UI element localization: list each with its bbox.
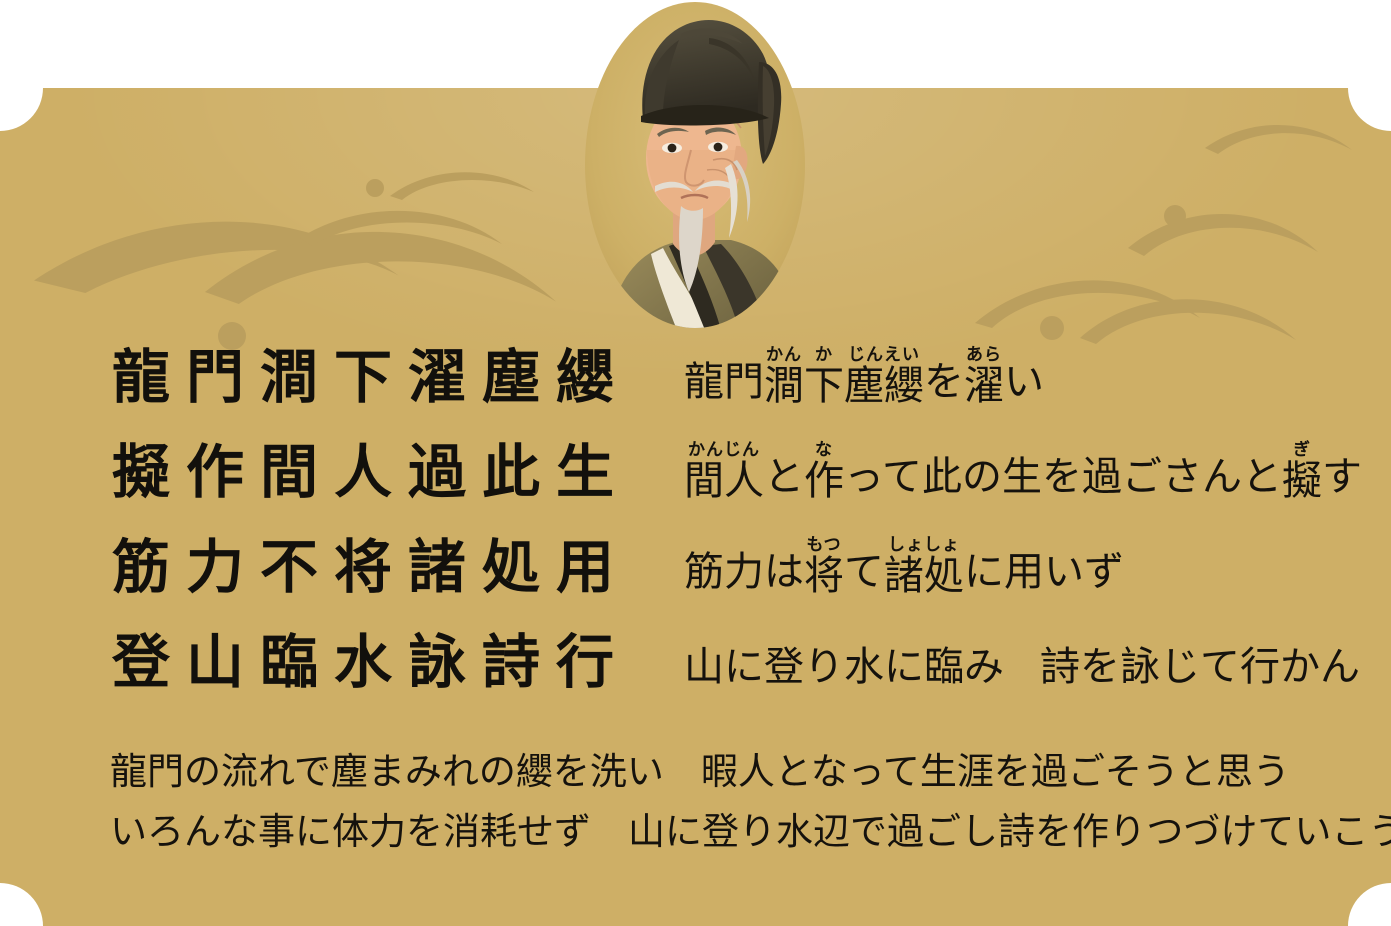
kanji-line-4: 登山臨水詠詩行 — [112, 615, 630, 710]
ruby-segment: 作な — [804, 440, 844, 506]
translation-line-1: 龍門の流れで塵まみれの纓を洗い暇人となって生涯を過ごそうと思う — [0, 742, 1391, 802]
poem-row: 龍門澗下濯塵纓 龍門澗かん下か塵纓じんえいを濯あらい — [0, 330, 1391, 425]
bird-wing-icon — [1128, 214, 1318, 256]
ruby-segment: 間人かんじん — [684, 440, 764, 506]
ruby-segment: 擬ぎ — [1282, 440, 1322, 506]
poem-block: 龍門澗下濯塵纓 龍門澗かん下か塵纓じんえいを濯あらい 擬作間人過此生 間人かんじ… — [0, 330, 1391, 710]
portrait-of-poet — [581, 0, 809, 330]
ruby-segment: を — [924, 349, 964, 407]
translation-line-1-part2: 暇人となって生涯を過ごそうと思う — [701, 750, 1290, 793]
ruby-segment: 詩を詠じて行かん — [1040, 634, 1360, 692]
bird-wing-icon — [390, 172, 534, 200]
corner-notch-bottom-right — [1348, 883, 1391, 926]
ruby-segment: 澗かん — [764, 345, 804, 411]
translation-line-2-part2: 山に登り水辺で過ごし詩を作りつづけていこう — [628, 810, 1391, 853]
corner-notch-top-left — [0, 88, 43, 131]
kanji-line-3: 筋力不将諸処用 — [112, 520, 630, 615]
kanji-line-1: 龍門澗下濯塵纓 — [112, 330, 630, 425]
yomi-line-1: 龍門澗かん下か塵纓じんえいを濯あらい — [684, 330, 1044, 425]
bird-wing-icon — [34, 222, 399, 293]
yomi-line-2: 間人かんじんと作なって此の生を過ごさんと擬ぎす — [684, 425, 1362, 520]
ruby-segment: 下か — [804, 345, 844, 411]
ruby-segment: と — [764, 444, 804, 502]
corner-notch-top-right — [1348, 88, 1391, 131]
furigana: ぎ — [1282, 440, 1322, 460]
ruby-segment: て — [844, 539, 884, 597]
yomi-line-4: 山に登り水に臨み詩を詠じて行かん — [684, 615, 1360, 710]
ruby-segment: 濯あら — [964, 345, 1004, 411]
translation-line-1-part1: 龍門の流れで塵まみれの纓を洗い — [110, 750, 664, 793]
bird-wing-icon — [205, 232, 556, 304]
translation-line-2: いろんな事に体力を消耗せず山に登り水辺で過ごし詩を作りつづけていこう — [0, 802, 1391, 862]
yomi-line-3: 筋力は将もつて諸処しょしょに用いず — [684, 520, 1124, 615]
furigana: かん — [764, 345, 804, 365]
furigana: しょしょ — [884, 535, 964, 555]
ruby-segment: って此の生を過ごさんと — [844, 444, 1282, 502]
ruby-segment: 山に登り水に臨み — [684, 634, 1004, 692]
ruby-segment: 塵纓じんえい — [844, 345, 924, 411]
ruby-segment: 将もつ — [804, 535, 844, 601]
ruby-segment: 諸処しょしょ — [884, 535, 964, 601]
ruby-segment: 筋力は — [684, 539, 804, 597]
corner-notch-bottom-left — [0, 883, 43, 926]
furigana: じんえい — [844, 345, 924, 365]
ruby-segment: す — [1322, 444, 1362, 502]
furigana: かんじん — [684, 440, 764, 460]
ruby-segment: に用いず — [964, 539, 1124, 597]
poem-row: 筋力不将諸処用 筋力は将もつて諸処しょしょに用いず — [0, 520, 1391, 615]
ruby-segment: 龍門 — [684, 349, 764, 407]
bird-body-dot-icon — [1164, 205, 1186, 227]
furigana: か — [804, 345, 844, 365]
bird-body-dot-icon — [366, 179, 384, 197]
ruby-segment: い — [1004, 349, 1044, 407]
bird-wing-icon — [300, 211, 502, 246]
translation-line-2-part1: いろんな事に体力を消耗せず — [110, 810, 591, 853]
furigana: な — [804, 440, 844, 460]
translation-block: 龍門の流れで塵まみれの纓を洗い暇人となって生涯を過ごそうと思う いろんな事に体力… — [0, 742, 1391, 862]
bird-wing-icon — [1205, 125, 1352, 154]
poem-row: 擬作間人過此生 間人かんじんと作なって此の生を過ごさんと擬ぎす — [0, 425, 1391, 520]
furigana: あら — [964, 345, 1004, 365]
poem-row: 登山臨水詠詩行 山に登り水に臨み詩を詠じて行かん — [0, 615, 1391, 710]
poem-card: 龍門澗下濯塵纓 龍門澗かん下か塵纓じんえいを濯あらい 擬作間人過此生 間人かんじ… — [0, 0, 1391, 926]
kanji-line-2: 擬作間人過此生 — [112, 425, 630, 520]
bird-wing-icon — [975, 280, 1200, 328]
furigana: もつ — [804, 535, 844, 555]
